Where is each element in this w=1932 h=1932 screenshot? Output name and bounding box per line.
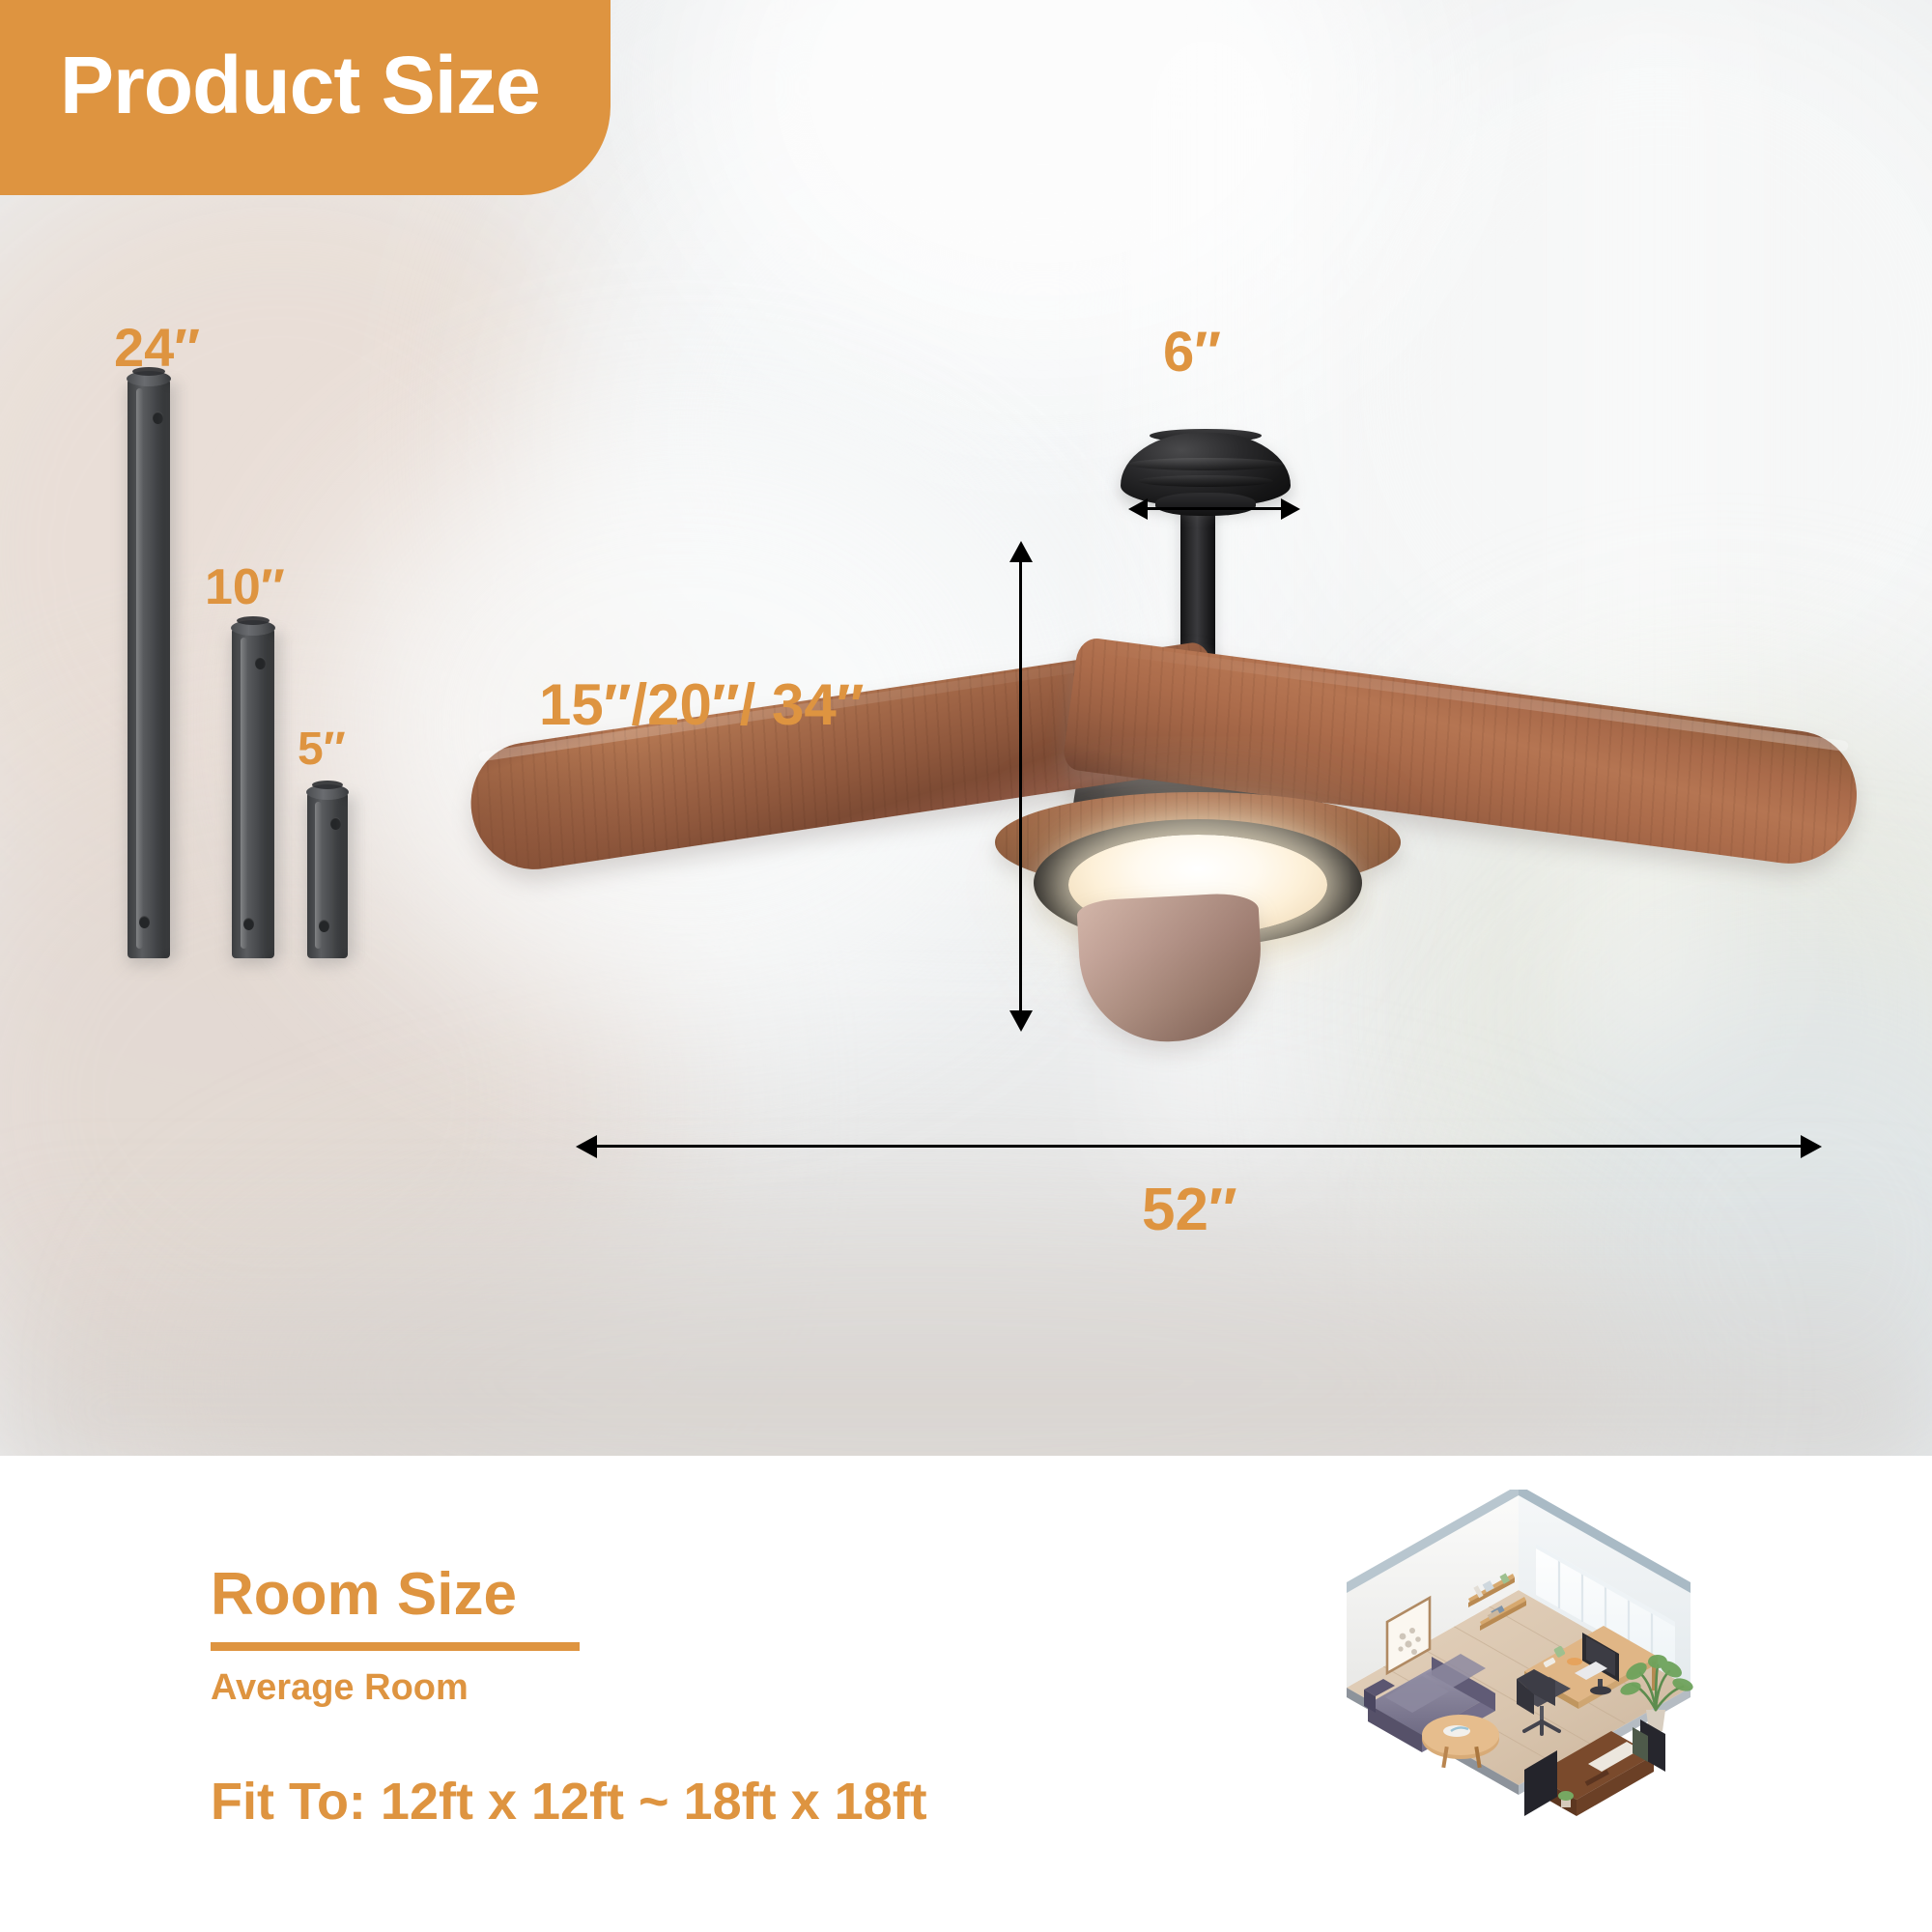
downrod-body — [307, 792, 348, 958]
background-floor-gradient — [0, 1188, 1932, 1456]
arrowhead-right — [1281, 498, 1300, 520]
dimension-label-drop-height: 15″/20″/ 34″ — [539, 676, 864, 734]
dimension-arrow-blade-span — [576, 1132, 1822, 1161]
isometric-room-illustration — [1325, 1490, 1712, 1876]
downrod-body — [128, 379, 170, 958]
downrod-bore — [312, 781, 343, 789]
downrod-highlight — [241, 638, 247, 949]
product-size-infographic: Product Size 24″ 10″ 5″ — [0, 0, 1932, 1932]
canopy-rib-lower — [1138, 475, 1273, 487]
room-size-fit-text: Fit To: 12ft x 12ft ~ 18ft x 18ft — [211, 1776, 927, 1828]
canopy-rib-upper — [1128, 458, 1283, 470]
downrod-24in — [128, 379, 170, 958]
fan-blade-front — [1076, 892, 1265, 1046]
downrod-shadow — [168, 383, 185, 958]
room-size-subtitle: Average Room — [211, 1669, 469, 1706]
downrod-shadow — [346, 796, 363, 958]
blade-front-shading — [1076, 892, 1265, 1046]
downrod-top-cap — [231, 620, 275, 636]
downrod-label-24: 24″ — [114, 321, 200, 375]
arrowhead-right — [1801, 1135, 1822, 1158]
downrod-pin-hole — [255, 657, 266, 669]
downrod-top-cap — [306, 784, 349, 800]
downrod-pin-hole-lower — [319, 920, 329, 932]
dimension-label-canopy-width: 6″ — [1163, 325, 1221, 381]
dimension-arrow-drop-height — [1005, 541, 1037, 1032]
dimension-arrow-canopy-width — [1128, 495, 1300, 524]
downrod-pin-hole — [153, 412, 163, 424]
dimension-label-blade-span: 52″ — [1142, 1180, 1237, 1240]
page-title: Product Size — [60, 44, 540, 126]
dimension-line — [588, 1145, 1809, 1148]
downrod-5in — [307, 792, 348, 958]
dimension-line — [1141, 507, 1288, 510]
downrod-body — [232, 628, 274, 958]
dimension-line — [1019, 554, 1022, 1019]
downrod-label-10: 10″ — [205, 562, 285, 612]
downrod-pin-hole — [330, 817, 341, 830]
room-size-underline — [211, 1642, 580, 1651]
downrod-pin-hole-lower — [243, 918, 254, 930]
room-size-title: Room Size — [211, 1565, 517, 1625]
downrod-label-5: 5″ — [298, 726, 346, 773]
downrod-shadow — [272, 632, 290, 958]
arrowhead-down — [1009, 1010, 1033, 1032]
header-tab: Product Size — [0, 0, 611, 195]
downrod-10in — [232, 628, 274, 958]
downrod-bore — [237, 616, 269, 625]
downrod-pin-hole-lower — [139, 916, 150, 928]
downrod-highlight — [136, 388, 143, 949]
